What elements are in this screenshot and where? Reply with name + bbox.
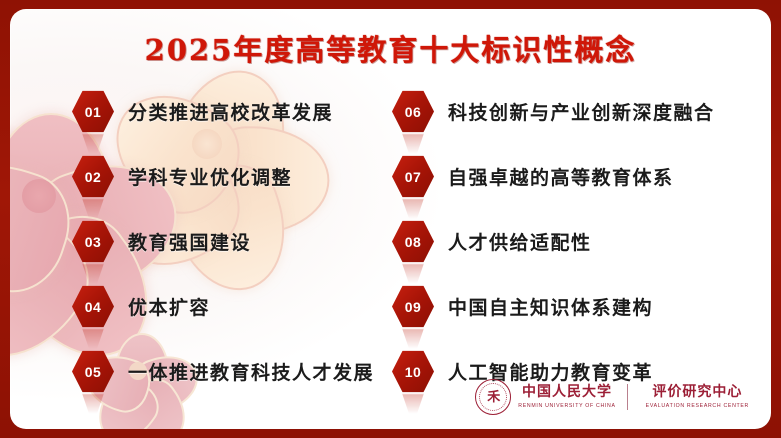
hexagon-number-badge: 09 <box>392 285 434 329</box>
university-seal-icon: 禾 <box>475 379 511 415</box>
seal-glyph: 禾 <box>487 391 499 404</box>
concept-label: 分类推进高校改革发展 <box>128 98 333 125</box>
badge-wrap: 04 <box>72 285 114 329</box>
badge-wrap: 06 <box>392 90 434 134</box>
university-name-cn: 中国人民大学 <box>522 385 612 400</box>
hexagon-number-badge: 02 <box>72 155 114 199</box>
badge-wrap: 08 <box>392 220 434 264</box>
concept-label: 优本扩容 <box>128 293 210 320</box>
concept-label: 一体推进教育科技人才发展 <box>128 358 374 385</box>
badge-wrap: 03 <box>72 220 114 264</box>
poster-frame: 2025年度高等教育十大标识性概念 01 分类推进高校改革发展 02 学科专业优… <box>0 0 781 438</box>
list-item[interactable]: 04 优本扩容 <box>72 274 382 339</box>
hexagon-number-badge: 05 <box>72 350 114 394</box>
poster-card: 2025年度高等教育十大标识性概念 01 分类推进高校改革发展 02 学科专业优… <box>10 9 771 429</box>
list-item[interactable]: 09 中国自主知识体系建构 <box>392 274 722 339</box>
concept-list-right: 06 科技创新与产业创新深度融合 07 自强卓越的高等教育体系 08 人才供给适… <box>392 79 722 404</box>
list-item[interactable]: 08 人才供给适配性 <box>392 209 722 274</box>
hexagon-number-badge: 04 <box>72 285 114 329</box>
list-item[interactable]: 07 自强卓越的高等教育体系 <box>392 144 722 209</box>
badge-wrap: 07 <box>392 155 434 199</box>
university-name-en: RENMIN UNIVERSITY OF CHINA <box>518 403 615 409</box>
hexagon-number-badge: 03 <box>72 220 114 264</box>
center-name-en: EVALUATION RESEARCH CENTER <box>646 403 749 409</box>
list-item[interactable]: 06 科技创新与产业创新深度融合 <box>392 79 722 144</box>
concept-label: 人才供给适配性 <box>448 228 592 255</box>
left-red-glow <box>10 79 80 379</box>
concept-label: 学科专业优化调整 <box>128 163 292 190</box>
concept-label: 自强卓越的高等教育体系 <box>448 163 674 190</box>
list-item[interactable]: 02 学科专业优化调整 <box>72 144 382 209</box>
concept-label: 科技创新与产业创新深度融合 <box>448 98 715 125</box>
concept-label: 教育强国建设 <box>128 228 251 255</box>
badge-wrap: 01 <box>72 90 114 134</box>
hexagon-number-badge: 10 <box>392 350 434 394</box>
university-name-block: 中国人民大学 RENMIN UNIVERSITY OF CHINA <box>518 385 615 408</box>
footer-logo: 禾 中国人民大学 RENMIN UNIVERSITY OF CHINA 评价研究… <box>475 379 749 415</box>
hexagon-number-badge: 07 <box>392 155 434 199</box>
concept-list-left: 01 分类推进高校改革发展 02 学科专业优化调整 03 教育强国建设 04 <box>72 79 382 404</box>
badge-wrap: 02 <box>72 155 114 199</box>
badge-wrap: 05 <box>72 350 114 394</box>
logo-divider <box>627 384 628 410</box>
concept-label: 中国自主知识体系建构 <box>448 293 653 320</box>
page-title: 2025年度高等教育十大标识性概念 <box>10 27 771 69</box>
list-item[interactable]: 03 教育强国建设 <box>72 209 382 274</box>
list-item[interactable]: 05 一体推进教育科技人才发展 <box>72 339 382 404</box>
list-item[interactable]: 01 分类推进高校改革发展 <box>72 79 382 144</box>
badge-wrap: 09 <box>392 285 434 329</box>
center-name-block: 评价研究中心 EVALUATION RESEARCH CENTER <box>646 385 749 408</box>
hexagon-number-badge: 08 <box>392 220 434 264</box>
hexagon-number-badge: 01 <box>72 90 114 134</box>
hexagon-number-badge: 06 <box>392 90 434 134</box>
center-name-cn: 评价研究中心 <box>652 385 742 400</box>
badge-wrap: 10 <box>392 350 434 394</box>
